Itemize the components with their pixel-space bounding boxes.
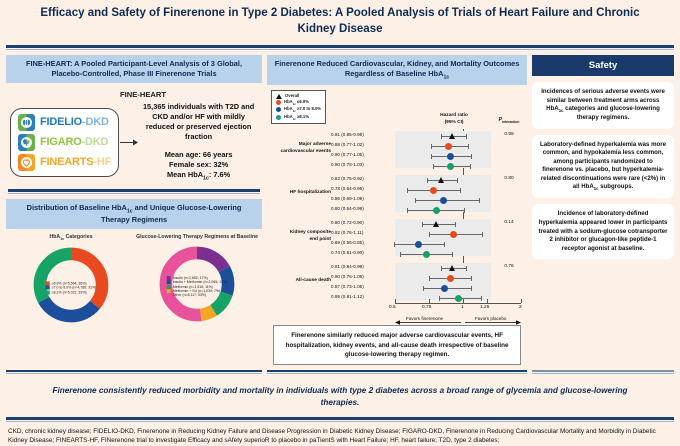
- legend-label: ≥8.1% (n=5,021; 33%): [52, 290, 87, 294]
- estimate-text: 0.95 (0.81-1.12): [331, 294, 393, 299]
- ci-cap: [427, 178, 428, 183]
- safety-box-serious-adverse-events: Incidences of serious adverse events wer…: [532, 82, 674, 129]
- ci-cap: [407, 208, 408, 213]
- favors-left-arrow-icon: [395, 312, 461, 330]
- estimate-text: 0.69 (0.56-0.85): [331, 240, 393, 245]
- abbreviations-text: CKD, chronic kidney disease; FIDELIO-DKD…: [0, 422, 680, 446]
- ci-cap: [444, 242, 445, 247]
- legend-item-hba1c-mid: HbA1c ≥7.0 to 8.0%: [276, 106, 321, 114]
- estimate-text: 0.80 (0.72-0.90): [331, 220, 393, 225]
- x-tick-label: 0.75: [422, 305, 431, 310]
- hba1c-donut-chart: HbA1c Categories: [8, 234, 134, 332]
- left-panel-divider: [8, 189, 260, 192]
- x-axis-tick: [429, 299, 430, 303]
- ci-cap: [407, 188, 408, 193]
- ci-cap: [439, 296, 440, 301]
- fine-heart-panel-header: FINE-HEART: A Pooled Participant-Level A…: [6, 55, 262, 83]
- ci-cap: [433, 164, 434, 169]
- page-title: Efficacy and Safety of Finerenone in Typ…: [40, 6, 640, 37]
- estimate-text: 0.90 (0.78-1.03): [331, 162, 393, 167]
- p-interaction-hf: 0.80: [489, 176, 529, 181]
- fine-heart-panel: FINE-HEART FIDELIO-DKD: [6, 90, 262, 182]
- glucose-therapy-donut-title: Glucose-Lowering Therapy Regimens at Bas…: [134, 234, 260, 240]
- fidelio-kidney-icon: [18, 114, 35, 131]
- outcome-label-kidney: Kidney compositeend point: [269, 230, 331, 242]
- ci-cap: [479, 198, 480, 203]
- demographics: Mean age: 66 years Female sex: 32% Mean …: [139, 150, 258, 182]
- demo-mean-hba1c: Mean HbA1c: 7.6%: [139, 170, 258, 182]
- ci-cap: [431, 144, 432, 149]
- ci-cap: [452, 252, 453, 257]
- ci-cap: [441, 266, 442, 271]
- outcome-label-mace: Major adverse cardiovascular events: [269, 142, 331, 154]
- trial-logo-fidelio: FIDELIO-DKD: [18, 114, 111, 131]
- legend-swatch: [276, 107, 281, 112]
- forest-legend: Overall HbA1c ≤6.9% HbA1c ≥7.0 to 8.0% H…: [271, 90, 326, 124]
- ci-cap: [466, 266, 467, 271]
- estimate-text: 0.90 (0.77-1.05): [331, 152, 393, 157]
- legend-swatch: [276, 100, 281, 105]
- title-divider: [6, 45, 674, 48]
- safety-panel-header: Safety: [532, 55, 674, 76]
- ci-cap: [481, 296, 482, 301]
- favors-finerenone-label: Favors finerenone: [406, 316, 443, 321]
- point-estimate-overall: [438, 177, 444, 183]
- point-estimate-hba1c-high: [423, 251, 430, 258]
- trial-logo-box: FIDELIO-DKD FIGARO-DKD: [10, 108, 119, 177]
- p-interaction-death: 0.76: [489, 264, 529, 269]
- footer-divider-mid: [267, 370, 527, 375]
- population-stats: 15,365 individuals with T2D and CKD and/…: [139, 102, 258, 182]
- forest-col-header-p: Pinteraction: [489, 117, 529, 124]
- demo-mean-age: Mean age: 66 years: [139, 150, 258, 160]
- outcome-label-hf: HF hospitalization: [269, 190, 331, 196]
- donut-panel-header: Distribution of Baseline HbA1c and Uniqu…: [6, 199, 262, 229]
- x-tick-label: 1.25: [480, 305, 489, 310]
- ci-cap: [422, 222, 423, 227]
- mid-panel-note: Finerenone similarly reduced major adver…: [273, 325, 521, 364]
- ci-cap: [455, 222, 456, 227]
- left-column: FINE-HEART: A Pooled Participant-Level A…: [6, 55, 262, 365]
- glucose-therapy-donut-holder: Insulin (n=2,652; 17%) Insulin + Metform…: [148, 242, 246, 331]
- footer-divider-left: [6, 370, 262, 375]
- finearts-logo-text: FINEARTS-HF: [40, 156, 111, 168]
- conclusion-statement: Finerenone consistently reduced morbidit…: [6, 378, 674, 415]
- triangle-marker-icon: [276, 94, 282, 99]
- legend-item: ≥8.1% (n=5,021; 33%): [46, 290, 97, 294]
- safety-box-sglt2-glp1: Incidence of laboratory-defined hyperkal…: [532, 204, 674, 259]
- ci-cap: [471, 154, 472, 159]
- donut-charts-container: HbA1c Categories: [6, 229, 262, 332]
- estimate-text: 0.74 (0.61-0.90): [331, 250, 393, 255]
- outcome-label-death: All-cause death: [269, 278, 331, 284]
- hba1c-donut-legend: ≤6.9% (n=5,564; 36%) ≥7.0 to 8.0% (n=4,7…: [46, 281, 97, 294]
- title-band: Efficacy and Safety of Finerenone in Typ…: [0, 0, 680, 41]
- forest-panel-header: Finerenone Reduced Cardiovascular, Kidne…: [267, 55, 527, 85]
- safety-column: Safety Incidences of serious adverse eve…: [532, 55, 674, 365]
- ci-cap: [457, 178, 458, 183]
- hba1c-donut-holder: ≤6.9% (n=5,564; 36%) ≥7.0 to 8.0% (n=4,7…: [22, 243, 120, 332]
- point-estimate-hba1c-high: [433, 207, 440, 214]
- estimate-text: 0.90 (0.76-1.06): [331, 274, 393, 279]
- x-tick-label: 2: [519, 305, 522, 310]
- ci-cap: [429, 276, 430, 281]
- point-estimate-overall: [433, 221, 439, 227]
- ci-cap: [394, 242, 395, 247]
- forest-plot: Overall HbA1c ≤6.9% HbA1c ≥7.0 to 8.0% H…: [267, 85, 527, 321]
- legend-label: HbA1c ≥7.0 to 8.0%: [284, 106, 321, 114]
- figaro-logo-text: FIGARO-DKD: [40, 136, 108, 148]
- estimate-text: 0.87 (0.73-1.05): [331, 284, 393, 289]
- x-axis-tick: [395, 299, 396, 303]
- ci-cap: [441, 134, 442, 139]
- estimate-text: 0.80 (0.64-0.99): [331, 206, 393, 211]
- fidelio-logo-text: FIDELIO-DKD: [40, 116, 109, 128]
- legend-item-hba1c-high: HbA1c ≥8.1%: [276, 114, 321, 122]
- point-estimate-hba1c-high: [455, 295, 462, 302]
- middle-column: Finerenone Reduced Cardiovascular, Kidne…: [267, 55, 527, 365]
- demo-female-sex: Female sex: 32%: [139, 160, 258, 170]
- legend-swatch: [46, 290, 50, 294]
- favors-right-arrow-icon: [465, 312, 521, 330]
- ci-cap: [471, 276, 472, 281]
- ci-cap: [423, 286, 424, 291]
- estimate-text: 0.78 (0.64-0.95): [331, 186, 393, 191]
- trials-row: FIDELIO-DKD FIGARO-DKD: [6, 102, 262, 182]
- ci-cap: [482, 232, 483, 237]
- finearts-heart-icon: [18, 154, 35, 171]
- fine-heart-program-label: FINE-HEART: [6, 90, 262, 99]
- point-estimate-overall: [449, 133, 455, 139]
- glucose-therapy-donut-legend: Insulin (n=2,652; 17%) Insulin + Metform…: [167, 276, 228, 298]
- arrow-icon: [119, 138, 139, 147]
- safety-box-hyperkalemia: Laboratory-defined hyperkalemia was more…: [532, 135, 674, 199]
- footer-divider-right: [532, 370, 674, 375]
- ci-cap: [466, 134, 467, 139]
- point-estimate-overall: [449, 265, 455, 271]
- infographic-page: Efficacy and Safety of Finerenone in Typ…: [0, 0, 680, 419]
- legend-swatch: [167, 294, 171, 298]
- estimate-text: 0.88 (0.77-1.02): [331, 142, 393, 147]
- ci-cap: [431, 154, 432, 159]
- ci-cap: [460, 188, 461, 193]
- p-interaction-mace: 0.99: [489, 132, 529, 137]
- x-tick-label: 1: [461, 305, 464, 310]
- legend-label: HbA1c ≥8.1%: [284, 114, 309, 122]
- legend-item-hba1c-low: HbA1c ≤6.9%: [276, 99, 321, 107]
- estimate-text: 0.91 (0.85-0.98): [331, 132, 393, 137]
- ci-cap: [471, 286, 472, 291]
- legend-swatch: [276, 115, 281, 120]
- p-interaction-kidney: 0.14: [489, 220, 529, 225]
- estimate-text: 0.83 (0.75-0.92): [331, 176, 393, 181]
- x-tick-label: 0.5: [389, 305, 396, 310]
- point-estimate-hba1c-high: [447, 163, 454, 170]
- population-description: 15,365 individuals with T2D and CKD and/…: [139, 102, 258, 142]
- figaro-kidney-heart-icon: [18, 134, 35, 151]
- trial-logo-finearts: FINEARTS-HF: [18, 154, 111, 171]
- x-axis-line: [395, 303, 521, 304]
- estimate-text: 0.92 (0.76-1.11): [331, 230, 393, 235]
- ci-cap: [400, 252, 401, 257]
- footer-divider-row: [0, 370, 680, 375]
- favors-placebo-label: Favors placebo: [475, 316, 506, 321]
- ci-bar: [415, 200, 479, 201]
- glucose-therapy-donut-chart: Glucose-Lowering Therapy Regimens at Bas…: [134, 234, 260, 332]
- forest-col-header-hr: Hazard ratio(95% CI): [419, 113, 489, 125]
- columns-container: FINE-HEART: A Pooled Participant-Level A…: [0, 50, 680, 365]
- legend-label: HbA1c ≤6.9%: [284, 99, 309, 107]
- estimate-text: 0.86 (0.69-1.09): [331, 196, 393, 201]
- legend-label: Other (n=8,117; 53%): [173, 293, 207, 297]
- x-axis-tick: [487, 299, 488, 303]
- estimate-text: 0.91 (0.84-0.99): [331, 264, 393, 269]
- left-panel-divider-thin: [8, 193, 260, 194]
- legend-item: Other (n=8,117; 53%): [167, 293, 228, 297]
- x-axis-tick: [463, 299, 464, 303]
- ci-cap: [415, 198, 416, 203]
- ci-cap: [470, 164, 471, 169]
- ci-cap: [468, 144, 469, 149]
- ci-cap: [464, 208, 465, 213]
- x-axis-tick: [521, 299, 522, 303]
- trial-logo-figaro: FIGARO-DKD: [18, 134, 111, 151]
- hba1c-donut-title: HbA1c Categories: [8, 234, 134, 241]
- ci-cap: [429, 232, 430, 237]
